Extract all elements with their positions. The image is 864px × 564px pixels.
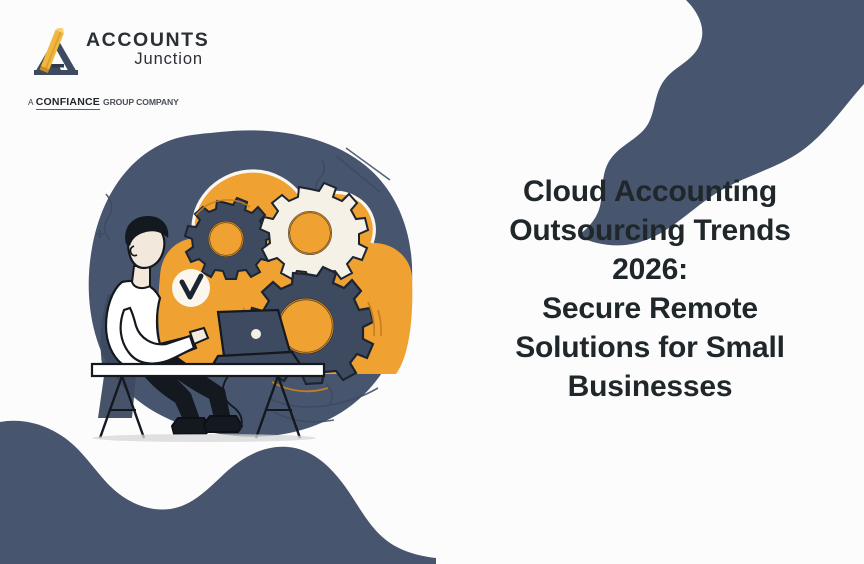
person-shoe-right — [204, 416, 242, 432]
headline-line-1: Cloud Accounting — [452, 172, 848, 211]
logo-name-accounts: ACCOUNTS — [86, 30, 211, 50]
headline-line-3: 2026: — [452, 250, 848, 289]
tagline-brand: CONFIANCE — [36, 96, 100, 110]
tagline-suffix: GROUP COMPANY — [103, 97, 179, 107]
checkmark-badge — [172, 269, 210, 307]
headline-line-6: Businesses — [452, 367, 848, 406]
accounts-junction-triangle-pencil-logo-icon — [28, 28, 84, 80]
logo-name-junction: Junction — [86, 50, 211, 69]
page-title: Cloud Accounting Outsourcing Trends 2026… — [452, 172, 848, 406]
cloud-accounting-illustration — [78, 126, 418, 452]
headline-line-2: Outsourcing Trends — [452, 211, 848, 250]
brand-logo[interactable]: ACCOUNTS Junction A CONFIANCE GROUP COMP… — [28, 22, 208, 102]
headline-line-5: Solutions for Small — [452, 328, 848, 367]
banner-canvas: ACCOUNTS Junction A CONFIANCE GROUP COMP… — [0, 0, 864, 564]
headline-line-4: Secure Remote — [452, 289, 848, 328]
person-neck — [132, 266, 150, 288]
tagline-prefix: A — [28, 98, 34, 107]
logo-tagline: A CONFIANCE GROUP COMPANY — [28, 96, 218, 110]
logo-wordmark: ACCOUNTS Junction — [86, 30, 211, 69]
